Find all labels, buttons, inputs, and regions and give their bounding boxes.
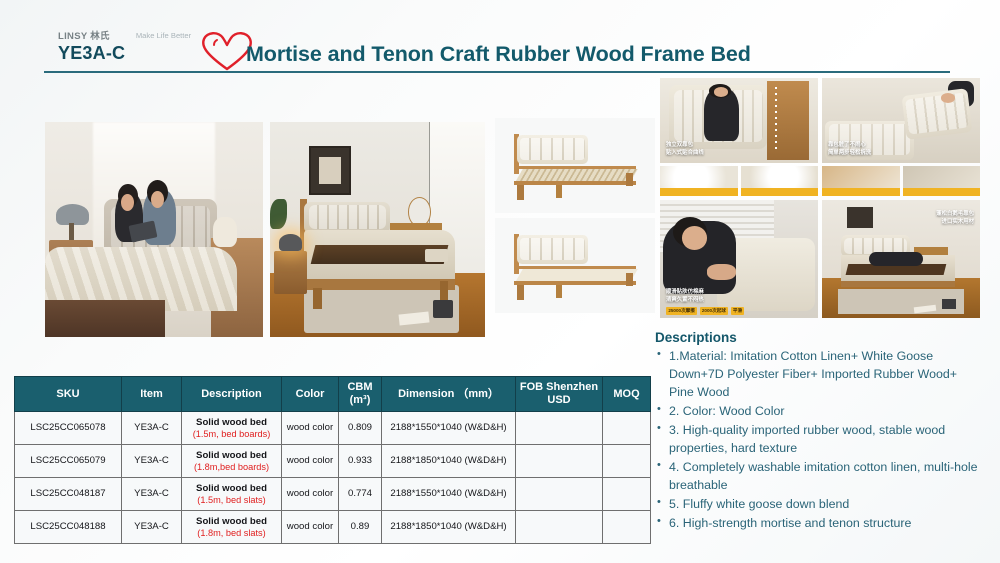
fiber-fill-thumb (741, 166, 819, 196)
cell-dimension: 2188*1850*1040 (W&D&H) (382, 511, 516, 544)
removable-cover-photo: 靠包脏了不闹心简单两步轻松拆洗 (822, 78, 980, 163)
full-bed-scene-photo: 蓬松白鹅毛靠包进口实木用材 (822, 200, 980, 318)
cell-description: Solid wood bed (1.5m, bed boards) (182, 412, 282, 445)
table-header-row: SKU Item Description Color CBM (m³) Dime… (15, 377, 651, 412)
cell-dimension: 2188*1550*1040 (W&D&H) (382, 412, 516, 445)
description-item: 4. Completely washable imitation cotton … (655, 459, 985, 495)
feature-collage: 独立双靠包贴入式贴合曲线 靠包脏了不闹心简单两步轻松拆洗 (660, 78, 980, 318)
headboard-curve-photo: 独立双靠包贴入式贴合曲线 (660, 78, 818, 163)
bed-frame-boards-render (495, 218, 655, 313)
cell-sku: LSC25CC065079 (15, 445, 122, 478)
page-title: Mortise and Tenon Craft Rubber Wood Fram… (246, 42, 751, 67)
cell-cbm: 0.933 (339, 445, 382, 478)
cell-fob (516, 412, 603, 445)
cell-moq (603, 478, 651, 511)
cell-item: YE3A-C (122, 478, 182, 511)
step-one-thumb (822, 166, 900, 196)
sku-table-wrapper: SKU Item Description Color CBM (m³) Dime… (14, 376, 650, 544)
description-item: 3. High-quality imported rubber wood, st… (655, 422, 985, 458)
description-item: 1.Material: Imitation Cotton Linen+ Whit… (655, 348, 985, 402)
collage-caption: 独立双靠包贴入式贴合曲线 (666, 141, 704, 157)
brand-tagline: Make Life Better (136, 31, 191, 40)
cell-item: YE3A-C (122, 511, 182, 544)
table-row: LSC25CC065079 YE3A-C Solid wood bed (1.8… (15, 445, 651, 478)
col-header-color: Color (282, 377, 339, 412)
cell-color: wood color (282, 478, 339, 511)
cell-sku: LSC25CC048187 (15, 478, 122, 511)
cell-description: Solid wood bed (1.5m, bed slats) (182, 478, 282, 511)
cell-description: Solid wood bed (1.8m, bed slats) (182, 511, 282, 544)
bed-frame-slats-render (495, 118, 655, 213)
cell-moq (603, 511, 651, 544)
skin-friendly-fabric-photo: 顺滑贴肤仿棉麻清爽久置不闷热 25000次摩擦 2000次起球 平滑 (660, 200, 818, 318)
descriptions-list: 1.Material: Imitation Cotton Linen+ Whit… (655, 348, 985, 533)
collage-caption: 顺滑贴肤仿棉麻清爽久置不闷热 (666, 288, 704, 304)
cell-moq (603, 412, 651, 445)
brand-name: LINSY 林氏 (58, 28, 110, 42)
collage-cell-washable: 靠包脏了不闹心简单两步轻松拆洗 (822, 78, 980, 196)
bedroom-interior-photo (270, 122, 485, 337)
table-row: LSC25CC065078 YE3A-C Solid wood bed (1.5… (15, 412, 651, 445)
cell-dimension: 2188*1550*1040 (W&D&H) (382, 478, 516, 511)
cell-fob (516, 445, 603, 478)
couple-in-bed-photo (45, 122, 263, 337)
goose-down-thumb (660, 166, 738, 196)
col-header-sku: SKU (15, 377, 122, 412)
collage-caption: 靠包脏了不闹心简单两步轻松拆洗 (828, 141, 871, 157)
description-item: 2. Color: Wood Color (655, 403, 985, 421)
cell-item: YE3A-C (122, 412, 182, 445)
descriptions-panel: Descriptions 1.Material: Imitation Cotto… (655, 330, 985, 534)
cell-fob (516, 511, 603, 544)
cell-moq (603, 445, 651, 478)
description-item: 6. High-strength mortise and tenon struc… (655, 515, 985, 533)
col-header-item: Item (122, 377, 182, 412)
col-header-dimension: Dimension （mm） (382, 377, 516, 412)
col-header-cbm: CBM (m³) (339, 377, 382, 412)
cell-cbm: 0.809 (339, 412, 382, 445)
collage-caption: 蓬松白鹅毛靠包进口实木用材 (936, 210, 974, 226)
description-item: 5. Fluffy white goose down blend (655, 496, 985, 514)
breathable-badge: 平滑 (731, 307, 744, 315)
table-row: LSC25CC048187 YE3A-C Solid wood bed (1.5… (15, 478, 651, 511)
cell-color: wood color (282, 511, 339, 544)
page-header: LINSY 林氏 Make Life Better YE3A-C Mortise… (0, 0, 1000, 78)
cell-fob (516, 478, 603, 511)
col-header-moq: MOQ (603, 377, 651, 412)
cell-dimension: 2188*1850*1040 (W&D&H) (382, 445, 516, 478)
cell-sku: LSC25CC065078 (15, 412, 122, 445)
table-body: LSC25CC065078 YE3A-C Solid wood bed (1.5… (15, 412, 651, 544)
durability-badge: 25000次摩擦 (666, 307, 697, 315)
cell-cbm: 0.774 (339, 478, 382, 511)
cell-cbm: 0.89 (339, 511, 382, 544)
product-spec-sheet: LINSY 林氏 Make Life Better YE3A-C Mortise… (0, 0, 1000, 563)
cell-sku: LSC25CC048188 (15, 511, 122, 544)
col-header-description: Description (182, 377, 282, 412)
step-two-thumb (903, 166, 981, 196)
descriptions-title: Descriptions (655, 330, 985, 345)
table-row: LSC25CC048188 YE3A-C Solid wood bed (1.8… (15, 511, 651, 544)
pilling-badge: 2000次起球 (700, 307, 728, 315)
collage-cell-headboard: 独立双靠包贴入式贴合曲线 (660, 78, 818, 196)
sku-table: SKU Item Description Color CBM (m³) Dime… (14, 376, 651, 544)
col-header-fob: FOB Shenzhen USD (516, 377, 603, 412)
cell-color: wood color (282, 412, 339, 445)
cell-description: Solid wood bed (1.8m,bed boards) (182, 445, 282, 478)
header-divider (44, 71, 950, 73)
cell-color: wood color (282, 445, 339, 478)
cell-item: YE3A-C (122, 445, 182, 478)
